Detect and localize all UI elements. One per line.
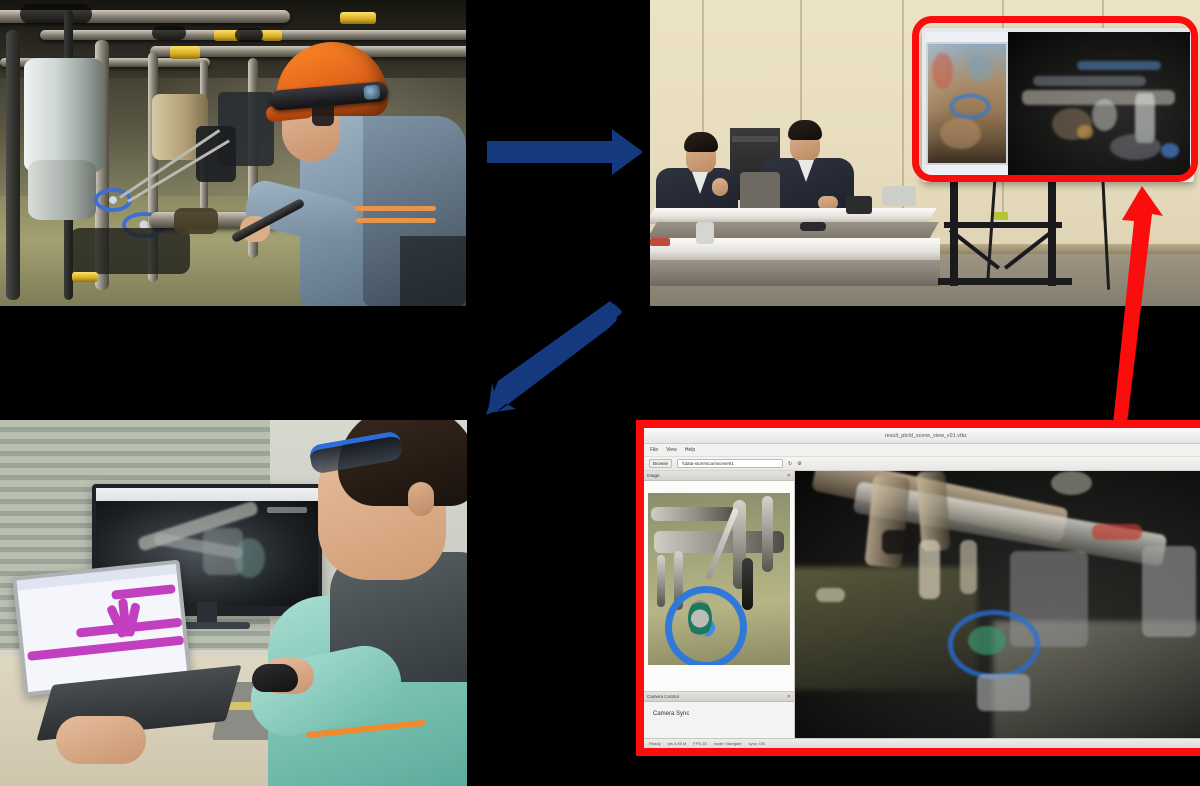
phone bbox=[650, 238, 670, 246]
pc-floor bbox=[795, 567, 977, 690]
display-app-bar bbox=[926, 32, 1008, 42]
panel-conference-photo bbox=[650, 0, 1200, 306]
attendee-hand bbox=[712, 178, 728, 196]
pc-valve-stem bbox=[968, 626, 1005, 655]
computer-mouse[interactable] bbox=[252, 664, 298, 692]
pipe-marker bbox=[340, 12, 376, 24]
stand-base bbox=[938, 278, 1072, 285]
pump-unit bbox=[70, 228, 190, 274]
photo-pipe bbox=[762, 496, 773, 572]
figure-canvas: result_ptcld_scene_view_v01.vtkz File Vi… bbox=[0, 0, 1200, 786]
tablet bbox=[882, 186, 916, 206]
diagram-line bbox=[27, 635, 184, 660]
pc-blob bbox=[968, 56, 992, 82]
pipe-elbow bbox=[20, 4, 92, 24]
3d-point-cloud-viewport[interactable] bbox=[795, 471, 1200, 738]
vessel bbox=[24, 58, 104, 173]
stand-crossbar bbox=[944, 222, 1062, 228]
pc-blob bbox=[940, 118, 981, 149]
cup bbox=[696, 222, 714, 244]
image-panel-body bbox=[644, 481, 794, 691]
cabinet-shelf bbox=[732, 136, 778, 142]
pc-blob bbox=[1092, 99, 1118, 131]
pc-pipe bbox=[919, 540, 940, 599]
close-icon[interactable]: ✕ bbox=[787, 473, 791, 479]
pc-blob bbox=[977, 674, 1031, 711]
valve-stem bbox=[688, 600, 712, 638]
viewport-badge bbox=[267, 507, 307, 513]
status-item: FPS 28 bbox=[693, 741, 706, 746]
path-field[interactable]: \\data-store\scan\scene01 bbox=[677, 459, 783, 468]
operator-ear bbox=[408, 482, 434, 516]
frame-post bbox=[6, 30, 20, 300]
camera-panel-header: Camera Control ✕ bbox=[644, 692, 794, 702]
display-live-photo bbox=[928, 44, 1007, 164]
cable-tie bbox=[994, 212, 1008, 220]
browse-button[interactable]: Browse bbox=[649, 459, 672, 468]
panel-plant-photo bbox=[0, 0, 466, 306]
image-panel-header: Image ✕ bbox=[644, 471, 794, 481]
camera-lens-icon bbox=[363, 85, 380, 100]
pc-equipment bbox=[1142, 546, 1196, 637]
status-bar: Ready pts 4.85 M FPS 28 mode: Navigate s… bbox=[644, 738, 1200, 748]
menu-item-view[interactable]: View bbox=[666, 447, 677, 453]
pipe-marker bbox=[262, 30, 282, 41]
photo-pipe bbox=[651, 507, 736, 521]
status-item: sync: ON bbox=[749, 741, 765, 746]
valve-body bbox=[174, 208, 218, 234]
pc-blob bbox=[1110, 134, 1161, 160]
diagram-line bbox=[111, 584, 176, 600]
photo-pipe bbox=[657, 555, 666, 607]
photo-fitting bbox=[742, 558, 753, 610]
reference-photo bbox=[648, 493, 790, 665]
pc-marker bbox=[1092, 524, 1142, 540]
menu-item-help[interactable]: Help bbox=[685, 447, 695, 453]
left-dock: Image ✕ bbox=[644, 471, 795, 738]
menu-bar: File View Help bbox=[644, 444, 1200, 457]
status-item: Ready bbox=[649, 741, 661, 746]
vessel bbox=[28, 160, 96, 220]
camera-sync-label: Camera Sync bbox=[644, 702, 794, 717]
pc-blob bbox=[1161, 143, 1179, 158]
close-icon[interactable]: ✕ bbox=[787, 694, 791, 700]
image-panel-title: Image bbox=[647, 473, 660, 478]
shadow bbox=[400, 236, 466, 306]
settings-icon[interactable]: ⚙ bbox=[797, 461, 801, 467]
pipe-elbow bbox=[152, 26, 186, 40]
pc-pipe bbox=[1033, 76, 1146, 86]
window-body: Image ✕ bbox=[644, 471, 1200, 738]
valve-highlight bbox=[950, 94, 991, 119]
status-item: pts 4.85 M bbox=[668, 741, 687, 746]
meeting-table bbox=[650, 238, 940, 262]
monitor-app-titlebar bbox=[96, 488, 318, 501]
display-right-pane bbox=[1008, 32, 1190, 178]
pc-blob bbox=[234, 538, 265, 578]
application-window: result_ptcld_scene_view_v01.vtkz File Vi… bbox=[644, 428, 1200, 748]
remote-control bbox=[800, 222, 826, 231]
menu-item-file[interactable]: File bbox=[650, 447, 658, 453]
attendee-hair bbox=[684, 132, 718, 152]
pc-blob bbox=[1077, 125, 1093, 138]
pc-blob bbox=[1051, 471, 1092, 495]
panel-software-window: result_ptcld_scene_view_v01.vtkz File Vi… bbox=[636, 420, 1200, 756]
pc-pipe bbox=[960, 540, 977, 593]
pc-pipe bbox=[865, 475, 911, 569]
hi-vis-stripe bbox=[352, 206, 436, 211]
hi-vis-stripe bbox=[356, 218, 436, 223]
refresh-icon[interactable]: ↻ bbox=[788, 461, 792, 467]
arrow-room-to-desk bbox=[486, 301, 622, 415]
window-titlebar: result_ptcld_scene_view_v01.vtkz bbox=[644, 428, 1200, 444]
pc-flange bbox=[882, 530, 915, 554]
pc-pipe bbox=[1077, 61, 1161, 70]
camera-panel: Camera Control ✕ Camera Sync bbox=[644, 691, 794, 738]
display-left-pane bbox=[926, 32, 1008, 178]
attendee-hair bbox=[788, 120, 822, 140]
conference-mic bbox=[846, 196, 872, 214]
pc-blob bbox=[816, 588, 845, 601]
wall-display[interactable] bbox=[922, 28, 1194, 182]
window-title: result_ptcld_scene_view_v01.vtkz bbox=[885, 433, 967, 439]
display-screen bbox=[926, 32, 1190, 178]
pipe-marker bbox=[72, 272, 98, 282]
head-strap bbox=[312, 100, 334, 126]
pipe-elbow bbox=[235, 28, 263, 42]
table-side bbox=[650, 260, 940, 286]
operator-hand bbox=[56, 716, 146, 764]
display-app-footer bbox=[926, 165, 1008, 178]
panel-office-photo bbox=[0, 420, 467, 786]
arrow-plant-to-room bbox=[487, 129, 643, 175]
pc-blob bbox=[932, 53, 952, 89]
pipe-marker bbox=[170, 46, 200, 59]
monitor-neck bbox=[197, 602, 217, 624]
camera-panel-title: Camera Control bbox=[647, 694, 679, 699]
toolbar: Browse \\data-store\scan\scene01 ↻ ⚙ bbox=[644, 457, 1200, 471]
status-item: mode: Navigate bbox=[714, 741, 742, 746]
